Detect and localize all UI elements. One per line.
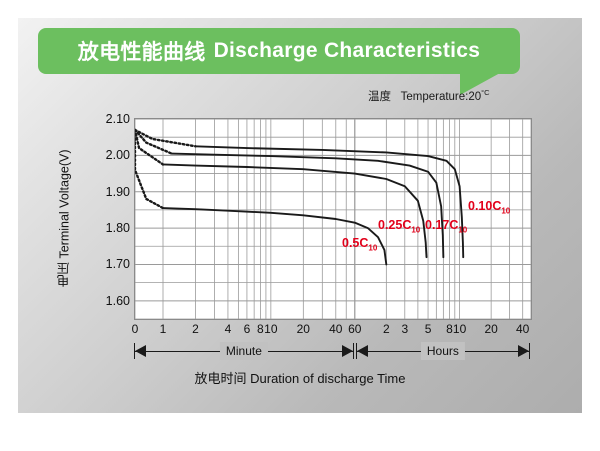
range-minute-label: Minute: [220, 342, 268, 360]
x-axis-title: 放电时间 Duration of discharge Time: [18, 368, 582, 387]
x-tick-label: 8: [446, 322, 453, 336]
range-minute: Minute: [134, 342, 354, 360]
arrow-right-icon: [342, 345, 353, 357]
header-bubble: 放电性能曲线 Discharge Characteristics: [38, 28, 520, 74]
title-chinese: 放电性能曲线: [78, 36, 206, 66]
x-tick-label: 2: [383, 322, 390, 336]
page-title: 放电性能曲线 Discharge Characteristics: [38, 28, 520, 74]
range-minute-cap-right: [353, 343, 354, 359]
x-tick-label: 4: [225, 322, 232, 336]
x-tick-label: 8: [257, 322, 264, 336]
title-english: Discharge Characteristics: [214, 39, 481, 63]
x-tick-label: 40: [329, 322, 342, 336]
curve-label-subscript: 10: [501, 207, 510, 216]
x-tick-label: 1: [160, 322, 167, 336]
x-tick-label: 10: [453, 322, 466, 336]
x-tick-label: 5: [425, 322, 432, 336]
curve-label-subscript: 10: [368, 244, 377, 253]
chart-grid: [135, 119, 531, 319]
plot-area: [134, 118, 532, 320]
x-tick-labels: 012468102040602358102040: [134, 322, 532, 338]
curve-label-text: 0.5C: [342, 236, 368, 250]
curve-label-text: 0.17C: [425, 218, 458, 232]
curve-label-0-25c: 0.25C10: [378, 218, 420, 235]
x-tick-label: 20: [484, 322, 497, 336]
x-tick-label: 40: [516, 322, 529, 336]
x-tick-label: 20: [297, 322, 310, 336]
x-tick-label: 2: [192, 322, 199, 336]
x-tick-label: 10: [264, 322, 277, 336]
y-tick-label: 1.80: [106, 221, 130, 235]
y-tick-label: 1.60: [106, 294, 130, 308]
y-tick-labels: 2.102.001.901.801.701.60: [82, 118, 130, 320]
curve-label-subscript: 10: [458, 226, 467, 235]
axis-range-bars: Minute Hours: [134, 342, 532, 360]
arrow-left-icon: [135, 345, 146, 357]
temperature-label-cn: 温度: [368, 91, 391, 103]
y-tick-label: 2.10: [106, 112, 130, 126]
range-hours-cap-right: [529, 343, 530, 359]
degree-icon: °C: [481, 88, 489, 97]
range-hours: Hours: [356, 342, 530, 360]
curve-label-subscript: 10: [411, 226, 420, 235]
curve-label-0-17c: 0.17C10: [425, 218, 467, 235]
x-tick-label: 0: [132, 322, 139, 336]
y-tick-label: 2.00: [106, 148, 130, 162]
chart-page: 放电性能曲线 Discharge Characteristics 温度 Temp…: [0, 0, 600, 451]
curve-label-0-5c: 0.5C10: [342, 236, 377, 253]
x-tick-label: 6: [244, 322, 251, 336]
x-tick-label: 60: [348, 322, 361, 336]
x-tick-label: 3: [401, 322, 408, 336]
range-hours-label: Hours: [421, 342, 465, 360]
curve-label-0-10c: 0.10C10: [468, 199, 510, 216]
y-tick-label: 1.90: [106, 185, 130, 199]
curve-label-text: 0.10C: [468, 199, 501, 213]
temperature-annotation: 温度 Temperature:20°C: [368, 88, 490, 104]
curve-label-text: 0.25C: [378, 218, 411, 232]
arrow-right-icon: [518, 345, 529, 357]
y-tick-label: 1.70: [106, 257, 130, 271]
temperature-value: Temperature:20: [401, 91, 482, 103]
y-axis-title: 电压 Terminal Voltage(V): [56, 118, 72, 318]
arrow-left-icon: [357, 345, 368, 357]
